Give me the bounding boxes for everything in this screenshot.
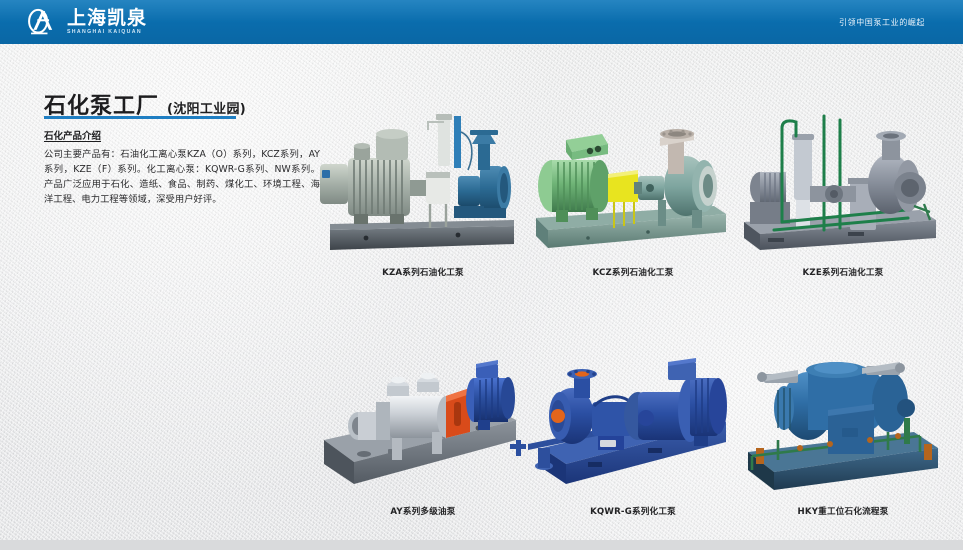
- product-card-kcz[interactable]: KCZ系列石油化工泵: [528, 110, 738, 278]
- product-caption-kcz: KCZ系列石油化工泵: [593, 266, 674, 278]
- kcz-pump-illustration: [528, 110, 738, 260]
- product-caption-ay: AY系列多级油泵: [390, 505, 455, 517]
- product-card-hky[interactable]: HKY重工位石化流程泵: [738, 344, 948, 517]
- header-slogan: 引领中国泵工业的崛起: [839, 0, 925, 44]
- intro-body: 公司主要产品有：石油化工离心泵KZA（O）系列，KCZ系列，AY系列，KZE（F…: [44, 147, 320, 207]
- product-caption-kza: KZA系列石油化工泵: [382, 266, 464, 278]
- product-image-hky: [738, 344, 948, 499]
- brand-logo[interactable]: 上海凯泉 SHANGHAI KAIQUAN: [24, 6, 147, 38]
- product-card-kqwrg[interactable]: KQWR-G系列化工泵: [528, 344, 738, 517]
- hky-pump-illustration: [738, 344, 948, 499]
- product-caption-hky: HKY重工位石化流程泵: [797, 505, 888, 517]
- product-image-kze: [738, 110, 948, 260]
- product-caption-kqwrg: KQWR-G系列化工泵: [590, 505, 676, 517]
- product-card-kza[interactable]: KZA系列石油化工泵: [318, 110, 528, 278]
- footer-strip: [0, 540, 963, 550]
- kza-pump-illustration: [318, 110, 528, 260]
- kqwrg-pump-illustration: [528, 344, 738, 499]
- kze-pump-illustration: [738, 110, 948, 260]
- product-image-kcz: [528, 110, 738, 260]
- product-image-kqwrg: [528, 344, 738, 499]
- brand-name-en: SHANGHAI KAIQUAN: [67, 30, 147, 35]
- ay-pump-illustration: [318, 344, 528, 499]
- brand-name-cn: 上海凯泉: [67, 9, 147, 28]
- product-card-ay[interactable]: AY系列多级油泵: [318, 344, 528, 517]
- product-grid: KZA系列石油化工泵: [318, 110, 948, 517]
- title-underline: [44, 116, 236, 119]
- product-caption-kze: KZE系列石油化工泵: [803, 266, 884, 278]
- page-root: 上海凯泉 SHANGHAI KAIQUAN 引领中国泵工业的崛起 石化泵工厂 (…: [0, 0, 963, 550]
- intro-heading: 石化产品介绍: [44, 128, 320, 142]
- site-header: 上海凯泉 SHANGHAI KAIQUAN 引领中国泵工业的崛起: [0, 0, 963, 44]
- product-row-2: AY系列多级油泵: [318, 344, 948, 517]
- brand-text: 上海凯泉 SHANGHAI KAIQUAN: [67, 9, 147, 36]
- product-card-kze[interactable]: KZE系列石油化工泵: [738, 110, 948, 278]
- product-row-1: KZA系列石油化工泵: [318, 110, 948, 278]
- kaiquan-logo-icon: [24, 6, 60, 38]
- intro-block: 石化产品介绍 公司主要产品有：石油化工离心泵KZA（O）系列，KCZ系列，AY系…: [44, 128, 320, 207]
- product-image-ay: [318, 344, 528, 499]
- page-title-sub: (沈阳工业园): [167, 98, 246, 117]
- product-image-kza: [318, 110, 528, 260]
